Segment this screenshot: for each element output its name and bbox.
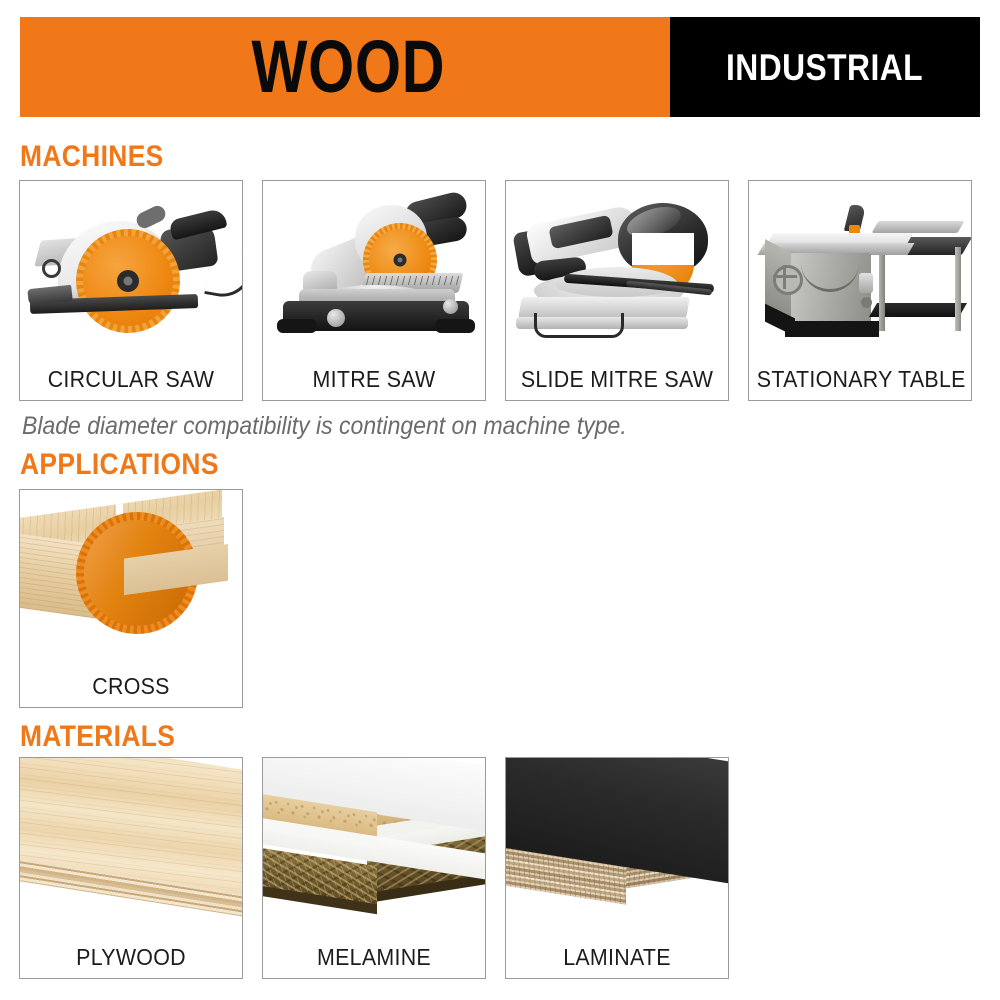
melamine-panel-icon — [263, 758, 485, 932]
material-card-laminate[interactable]: LAMINATE — [505, 757, 729, 979]
card-art — [20, 181, 242, 354]
machine-card-slide-mitre-saw[interactable]: SLIDE MITRE SAW — [505, 180, 729, 401]
card-label: LAMINATE — [514, 944, 720, 970]
laminate-panel-icon — [506, 758, 728, 932]
mitre-saw-icon — [263, 181, 485, 354]
grade-badge: INDUSTRIAL — [727, 49, 924, 86]
card-label: MELAMINE — [271, 944, 477, 970]
page-title: WOOD — [245, 30, 445, 104]
cross-cut-blade-icon — [20, 490, 242, 661]
machine-compatibility-note: Blade diameter compatibility is continge… — [22, 412, 627, 440]
slide-mitre-saw-icon — [506, 181, 728, 354]
header-bar: WOOD INDUSTRIAL — [20, 17, 980, 117]
section-heading-applications: APPLICATIONS — [20, 450, 219, 480]
application-card-cross[interactable]: CROSS — [19, 489, 243, 708]
material-card-melamine[interactable]: MELAMINE — [262, 757, 486, 979]
card-art — [506, 181, 728, 354]
machine-card-circular-saw[interactable]: CIRCULAR SAW — [19, 180, 243, 401]
card-label: STATIONARY TABLE — [757, 366, 963, 392]
card-label: SLIDE MITRE SAW — [514, 366, 720, 392]
section-heading-machines: MACHINES — [20, 142, 164, 172]
machine-card-mitre-saw[interactable]: MITRE SAW — [262, 180, 486, 401]
plywood-panel-icon — [20, 758, 242, 932]
card-art — [263, 758, 485, 932]
stationary-table-saw-icon — [749, 181, 971, 354]
section-heading-materials: MATERIALS — [20, 722, 175, 752]
card-art — [263, 181, 485, 354]
circular-saw-icon — [20, 181, 242, 354]
header-badge-zone: INDUSTRIAL — [670, 17, 980, 117]
card-label: CIRCULAR SAW — [28, 366, 234, 392]
card-art — [749, 181, 971, 354]
card-label: MITRE SAW — [271, 366, 477, 392]
card-art — [20, 758, 242, 932]
card-art — [506, 758, 728, 932]
card-art — [20, 490, 242, 661]
card-label: CROSS — [28, 673, 234, 699]
header-title-zone: WOOD — [20, 17, 670, 117]
machine-card-stationary-table[interactable]: STATIONARY TABLE — [748, 180, 972, 401]
material-card-plywood[interactable]: PLYWOOD — [19, 757, 243, 979]
card-label: PLYWOOD — [28, 944, 234, 970]
